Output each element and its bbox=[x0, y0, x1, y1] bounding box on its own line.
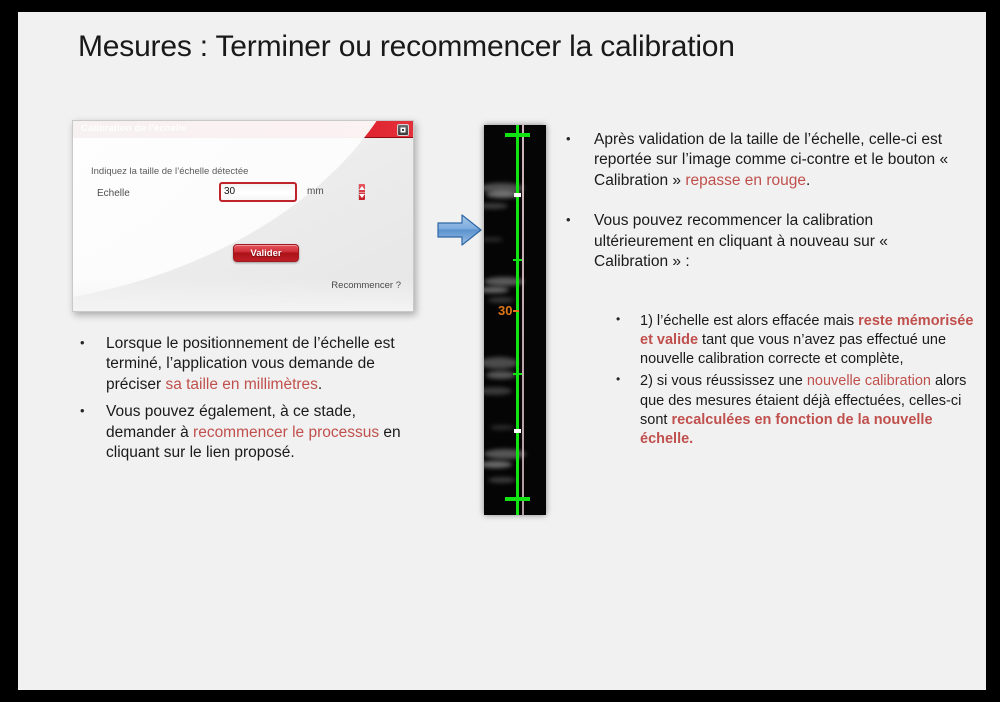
dialog-hint-text: Indiquez la taille de l’échelle détectée bbox=[91, 166, 248, 177]
sub-bullet-list: •1) l’échelle est alors effacée mais res… bbox=[616, 312, 996, 452]
needle-line bbox=[522, 125, 524, 515]
list-item-text: Vous pouvez également, à ce stade, deman… bbox=[106, 402, 406, 463]
spinner-down-icon[interactable] bbox=[359, 192, 365, 201]
close-glyph bbox=[399, 126, 407, 134]
page-title: Mesures : Terminer ou recommencer la cal… bbox=[78, 30, 938, 64]
caliper-tick bbox=[513, 259, 522, 261]
caliper-tick bbox=[513, 373, 522, 375]
text-run: . bbox=[806, 172, 810, 189]
caliper-line bbox=[516, 125, 519, 515]
list-item-text: Lorsque le positionnement de l’échelle e… bbox=[106, 334, 406, 395]
caliper-marker bbox=[514, 429, 521, 433]
list-item: •Vous pouvez recommencer la calibration … bbox=[566, 211, 986, 272]
validate-button[interactable]: Valider bbox=[233, 244, 299, 262]
text-run: . bbox=[318, 376, 322, 393]
chevron-up-icon bbox=[359, 186, 365, 190]
caliper-marker bbox=[514, 193, 521, 197]
text-run: 2) si vous réussissez une bbox=[640, 373, 807, 389]
scale-input[interactable] bbox=[221, 184, 358, 200]
list-item-text: 1) l’échelle est alors effacée mais rest… bbox=[640, 312, 980, 369]
right-arrow-icon bbox=[436, 212, 484, 248]
right-bullet-list: •Après validation de la taille de l’éche… bbox=[566, 130, 986, 293]
bullet-marker: • bbox=[616, 312, 640, 369]
list-item-text: Vous pouvez recommencer la calibration u… bbox=[594, 211, 966, 272]
chevron-down-icon bbox=[359, 194, 365, 198]
right-arrow-glyph bbox=[436, 212, 484, 248]
dialog-body: Indiquez la taille de l’échelle détectée… bbox=[73, 138, 413, 312]
text-run: Vous pouvez recommencer la calibration u… bbox=[594, 212, 888, 270]
list-item: •1) l’échelle est alors effacée mais res… bbox=[616, 312, 996, 369]
measurement-tick bbox=[513, 310, 519, 312]
left-bullet-list: •Lorsque le positionnement de l’échelle … bbox=[80, 334, 480, 471]
slide-canvas: Mesures : Terminer ou recommencer la cal… bbox=[18, 12, 986, 690]
text-run: sa taille en millimètres bbox=[165, 376, 317, 393]
scale-spinner[interactable] bbox=[219, 182, 297, 202]
list-item: •2) si vous réussissez une nouvelle cali… bbox=[616, 372, 996, 449]
list-item-text: 2) si vous réussissez une nouvelle calib… bbox=[640, 372, 980, 449]
bullet-marker: • bbox=[566, 130, 594, 191]
scale-field-label: Echelle bbox=[97, 188, 130, 199]
text-run: recalculées en fonction de la nouvelle é… bbox=[640, 412, 933, 447]
text-run: 1) l’échelle est alors effacée mais bbox=[640, 313, 858, 329]
list-item: •Lorsque le positionnement de l’échelle … bbox=[80, 334, 480, 395]
bullet-marker: • bbox=[80, 334, 106, 395]
restart-link[interactable]: Recommencer ? bbox=[331, 280, 401, 291]
caliper-top-cap bbox=[505, 133, 530, 137]
text-run: repasse en rouge bbox=[685, 172, 806, 189]
text-run: recommencer le processus bbox=[193, 424, 379, 441]
bullet-marker: • bbox=[80, 402, 106, 463]
caliper-bottom-cap bbox=[505, 497, 530, 501]
calibration-dialog: Calibration de l’échelle Indiquez la tai… bbox=[72, 120, 414, 312]
ultrasound-image: 30 bbox=[484, 125, 546, 515]
text-run: nouvelle calibration bbox=[807, 373, 931, 389]
spinner-buttons[interactable] bbox=[358, 184, 365, 200]
bullet-marker: • bbox=[616, 372, 640, 449]
bullet-marker: • bbox=[566, 211, 594, 272]
list-item: •Après validation de la taille de l’éche… bbox=[566, 130, 986, 191]
scale-unit-label: mm bbox=[307, 186, 324, 197]
measurement-label: 30 bbox=[498, 303, 512, 318]
list-item-text: Après validation de la taille de l’échel… bbox=[594, 130, 966, 191]
list-item: •Vous pouvez également, à ce stade, dema… bbox=[80, 402, 480, 463]
spinner-up-icon[interactable] bbox=[359, 184, 365, 192]
close-icon[interactable] bbox=[397, 124, 409, 136]
